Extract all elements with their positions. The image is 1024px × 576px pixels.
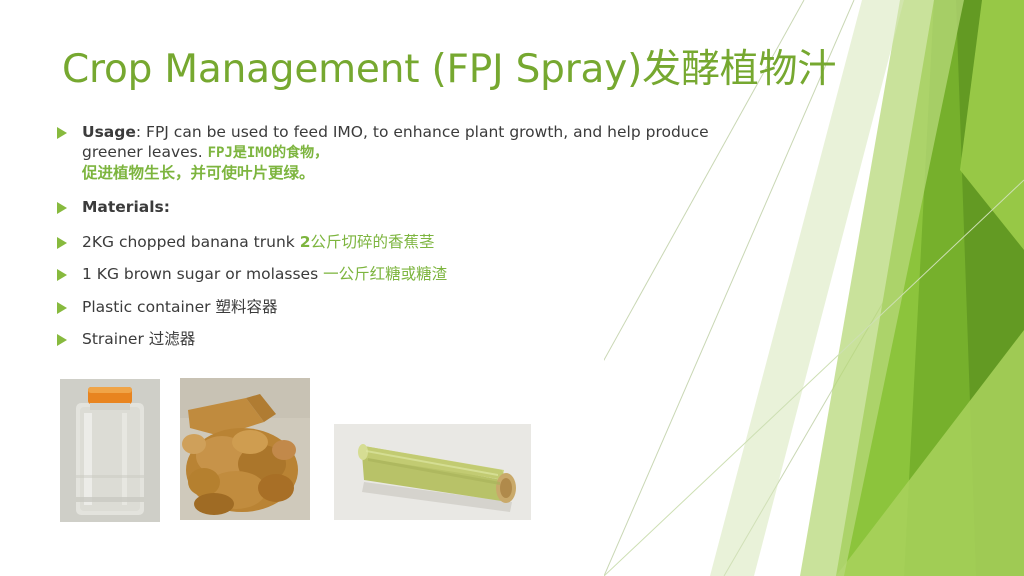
banana-trunk-en: 2KG chopped banana trunk xyxy=(82,233,300,251)
triangle-bullet-icon xyxy=(56,232,82,249)
brown-sugar-zh: 一公斤红糖或糖渣 xyxy=(323,265,447,283)
usage-text-en: FPJ can be used to feed IMO, to enhance … xyxy=(82,123,709,161)
materials-label: Materials: xyxy=(82,197,756,217)
list-item-strainer: Strainer 过滤器 xyxy=(56,329,756,349)
slide: Crop Management (FPJ Spray)发酵植物汁 Usage: … xyxy=(0,0,1024,576)
list-item-banana-trunk: 2KG chopped banana trunk 2公斤切碎的香蕉茎 xyxy=(56,232,756,252)
strainer-zh: 过滤器 xyxy=(149,330,196,348)
usage-text-zh-1: FPJ是IMO的食物， xyxy=(208,145,329,161)
plastic-jar-photo xyxy=(60,379,160,522)
title-zh: 发酵植物汁 xyxy=(642,47,836,92)
brown-sugar-photo xyxy=(180,378,310,520)
triangle-bullet-icon xyxy=(56,122,82,139)
usage-label: Usage xyxy=(82,123,136,141)
brown-sugar-text: 1 KG brown sugar or molasses 一公斤红糖或糖渣 xyxy=(82,264,756,284)
banana-trunk-photo xyxy=(334,424,531,520)
banana-trunk-number: 2 xyxy=(300,233,311,251)
usage-label-suffix: : xyxy=(136,123,146,141)
title-en: Crop Management (FPJ Spray) xyxy=(62,47,642,92)
banana-trunk-text: 2KG chopped banana trunk 2公斤切碎的香蕉茎 xyxy=(82,232,756,252)
strainer-text: Strainer 过滤器 xyxy=(82,329,756,349)
page-title: Crop Management (FPJ Spray)发酵植物汁 xyxy=(62,48,962,93)
brown-sugar-en: 1 KG brown sugar or molasses xyxy=(82,265,323,283)
list-item-plastic-container: Plastic container 塑料容器 xyxy=(56,297,756,317)
list-item-materials: Materials: xyxy=(56,197,756,217)
plastic-container-zh: 塑料容器 xyxy=(215,298,277,316)
triangle-bullet-icon xyxy=(56,264,82,281)
banana-trunk-zh: 公斤切碎的香蕉茎 xyxy=(310,233,434,251)
usage-text-zh-2: 促进植物生长，并可使叶片更绿。 xyxy=(82,164,315,182)
list-item-brown-sugar: 1 KG brown sugar or molasses 一公斤红糖或糖渣 xyxy=(56,264,756,284)
usage-text: Usage: FPJ can be used to feed IMO, to e… xyxy=(82,122,756,183)
plastic-container-en: Plastic container xyxy=(82,298,215,316)
plastic-container-text: Plastic container 塑料容器 xyxy=(82,297,756,317)
list-item-usage: Usage: FPJ can be used to feed IMO, to e… xyxy=(56,122,756,183)
bullet-list: Usage: FPJ can be used to feed IMO, to e… xyxy=(56,122,756,362)
triangle-bullet-icon xyxy=(56,329,82,346)
triangle-bullet-icon xyxy=(56,297,82,314)
triangle-bullet-icon xyxy=(56,197,82,214)
strainer-en: Strainer xyxy=(82,330,149,348)
